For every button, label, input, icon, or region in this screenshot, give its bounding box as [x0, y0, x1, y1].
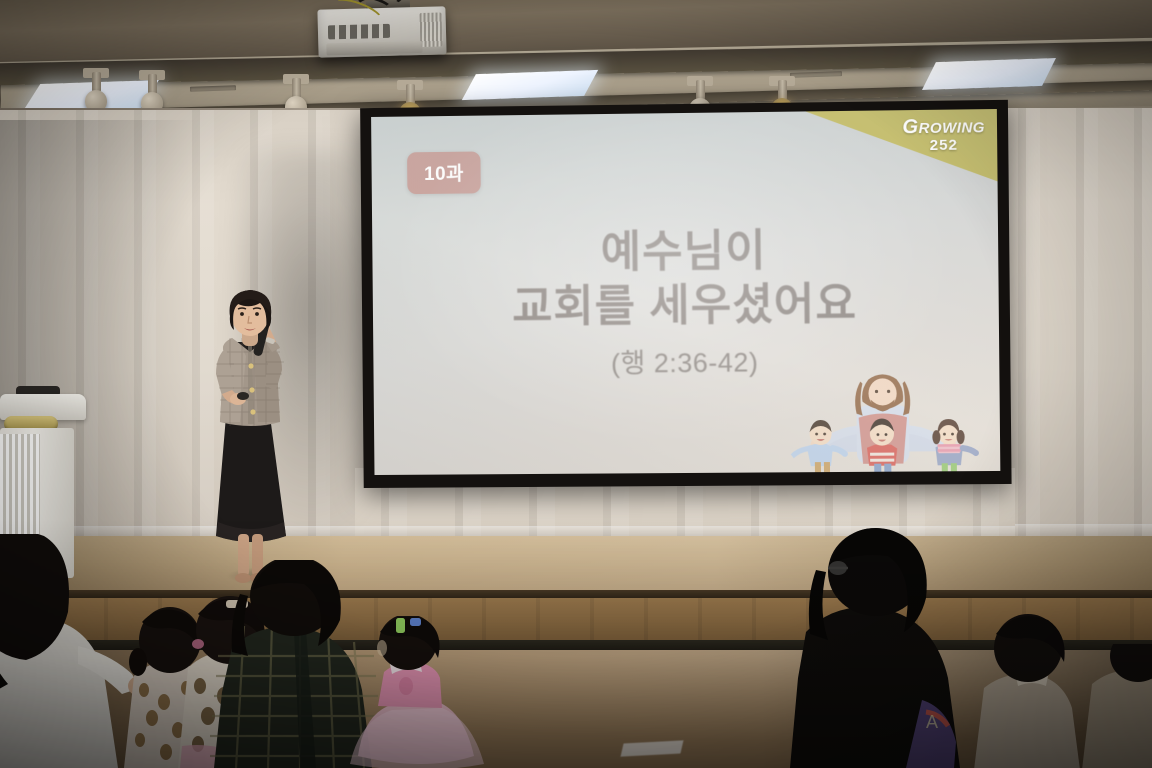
photo-scene: GROWING 252 10과 예수님이 교회를 세우셨어요 (행 2:36-4… — [0, 0, 1152, 768]
recessed-panel-light — [922, 58, 1056, 90]
slide-title-line-1: 예수님이 — [372, 222, 998, 282]
presenter-speaking — [196, 286, 306, 586]
lesson-number-badge: 10과 — [407, 151, 481, 194]
logo-word: ROWING — [918, 119, 984, 137]
recessed-panel-light — [462, 70, 598, 100]
audience-adult-dark-silhouette-glasses: A — [776, 528, 996, 768]
slide-title: 예수님이 교회를 세우셨어요 — [372, 222, 999, 336]
audience-girl-pink-tulle-dress — [334, 616, 514, 768]
slide-title-line-2: 교회를 세우셨어요 — [373, 276, 999, 336]
logo-number: 252 — [903, 137, 986, 153]
projector-ports — [328, 24, 390, 40]
projected-slide: GROWING 252 10과 예수님이 교회를 세우셨어요 (행 2:36-4… — [371, 109, 1000, 475]
jesus-with-children-illustration — [784, 365, 982, 475]
growing-252-logo: GROWING 252 — [902, 116, 985, 153]
projection-screen-frame: GROWING 252 10과 예수님이 교회를 세우셨어요 (행 2:36-4… — [360, 100, 1011, 488]
logo-initial: G — [902, 116, 918, 138]
audience-child-partial-right-edge — [1076, 644, 1152, 768]
projector-vent-grille — [420, 12, 443, 47]
stage-curtain-right — [1000, 108, 1152, 538]
svg-text:A: A — [926, 712, 938, 732]
projector-front-face — [326, 41, 422, 56]
